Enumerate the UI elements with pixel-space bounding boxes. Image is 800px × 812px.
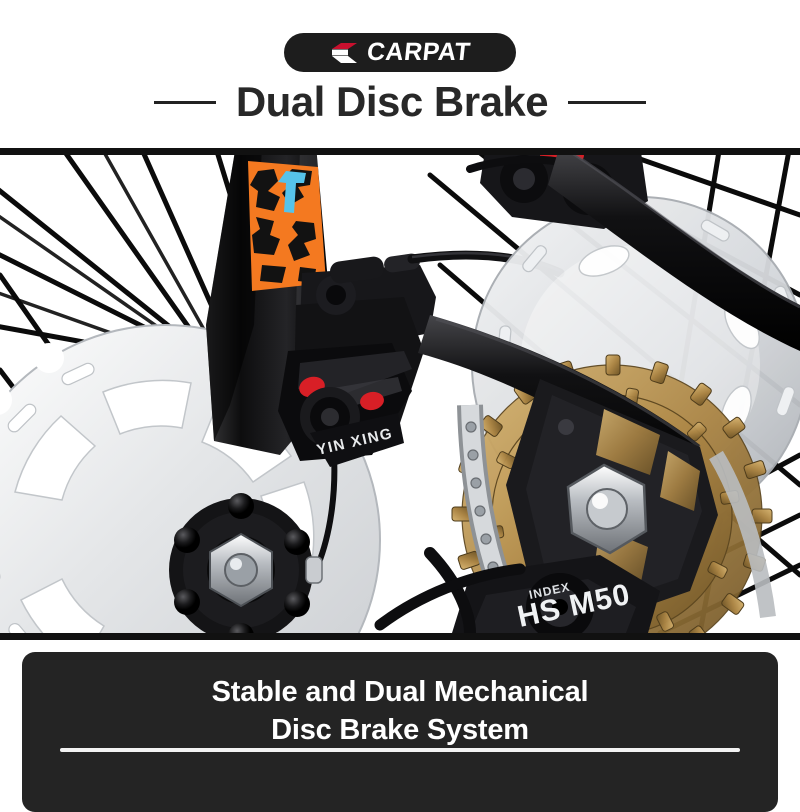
- caption-underline: [60, 748, 740, 752]
- caption-line-2: Disc Brake System: [271, 712, 529, 750]
- product-feature-card: CARPAT Dual Disc Brake: [0, 0, 800, 800]
- title-rule-left: [154, 101, 216, 104]
- brand-logo: CARPAT: [284, 33, 516, 72]
- caption-line-1: Stable and Dual Mechanical: [212, 674, 589, 712]
- caption-panel: Stable and Dual Mechanical Disc Brake Sy…: [22, 652, 778, 812]
- title-rule-right: [568, 101, 646, 104]
- brand-name: CARPAT: [365, 40, 471, 65]
- disc-brake-illustration: YIN XING: [0, 155, 800, 633]
- page-title: Dual Disc Brake: [236, 81, 548, 123]
- title-row: Dual Disc Brake: [0, 78, 800, 126]
- product-photo: YIN XING: [0, 148, 800, 640]
- carpat-chevron-mark-icon: [330, 42, 360, 64]
